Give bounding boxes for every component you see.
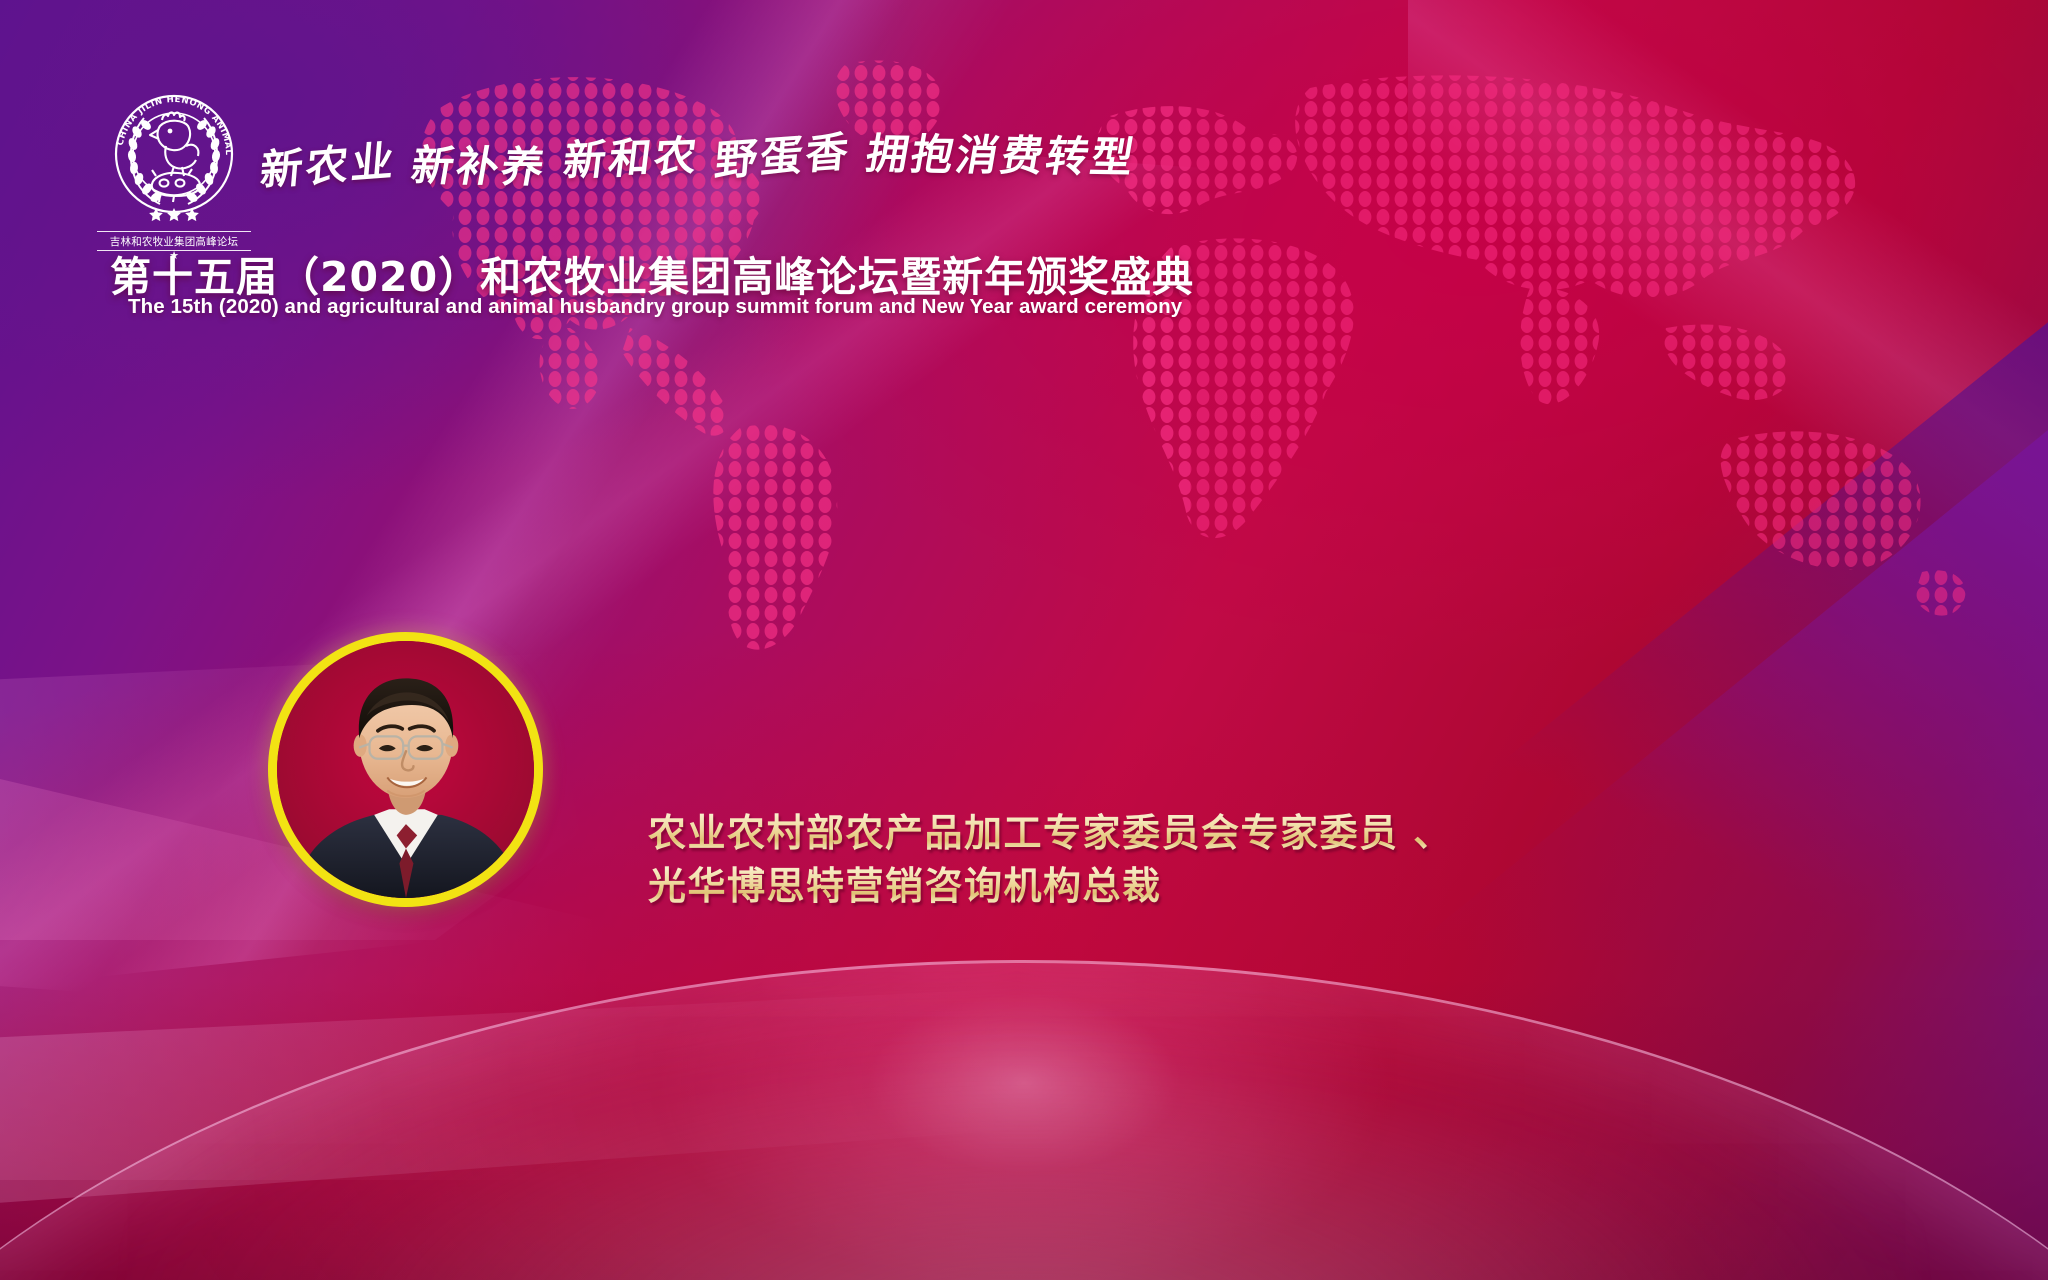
title-char: 牧	[616, 396, 757, 572]
speaker-char: 韩	[1028, 670, 1119, 769]
title-char: 发	[1275, 393, 1419, 566]
slogan-group-3: 野蛋香	[713, 118, 854, 189]
emblem-stars-icon	[149, 208, 199, 221]
speaker-char: 宾	[872, 670, 963, 769]
title-char: 状	[1012, 396, 1153, 572]
slogan-group-2: 新和农	[560, 122, 703, 188]
rooster-pig-emblem-icon: CHINA JILIN HENONG ANIMAL HUSBANDRY GROU…	[104, 84, 244, 224]
speaker-char: 讲	[716, 670, 807, 769]
slogan-group-1: 新补养	[407, 132, 552, 195]
speaker-char: 志	[1110, 666, 1194, 765]
slogan-group-4: 拥抱消费转型	[862, 120, 1142, 185]
speaker-char: ：	[954, 666, 1038, 765]
title-char: 未	[1671, 393, 1815, 566]
presentation-title: 我国畜牧业现状、发展及未来	[218, 398, 1933, 569]
title-char: 展	[1408, 396, 1549, 572]
speaker-char: 辉	[1184, 670, 1275, 769]
slogan-group-0: 新农业	[258, 127, 399, 198]
event-headline-en: The 15th (2020) and agricultural and ani…	[128, 295, 1182, 319]
event-headline-cn: 第十五届（2020）和农牧业集团高峰论坛暨新年颁奖盛典	[110, 243, 1194, 303]
poster-canvas: CHINA JILIN HENONG ANIMAL HUSBANDRY GROU…	[0, 0, 2048, 1280]
speaker-avatar	[268, 632, 543, 907]
speaker-credential-2: 光华博思特营销咨询机构总裁	[648, 855, 1162, 910]
title-char: 及	[1536, 396, 1687, 570]
speaker-line: 主讲嘉宾：韩志辉	[640, 668, 1274, 764]
title-char: 、	[1140, 396, 1291, 570]
title-char: 来	[1805, 396, 1946, 572]
title-char: 国	[347, 396, 498, 570]
brand-slogan: 新农业新补养新和农野蛋香拥抱消费转型	[257, 120, 988, 196]
speaker-char: 嘉	[798, 666, 882, 765]
title-char: 现	[879, 393, 1023, 566]
brand-logo: CHINA JILIN HENONG ANIMAL HUSBANDRY GROU…	[104, 84, 256, 261]
speaker-credential-1: 农业农村部农产品加工专家委员会专家委员 、	[648, 802, 1453, 857]
speaker-portrait-image	[277, 641, 534, 898]
title-char: 我	[220, 396, 361, 572]
title-char: 畜	[483, 393, 627, 566]
speaker-char: 主	[642, 666, 726, 765]
globe-glow	[124, 980, 1924, 1280]
title-char: 业	[744, 396, 895, 570]
